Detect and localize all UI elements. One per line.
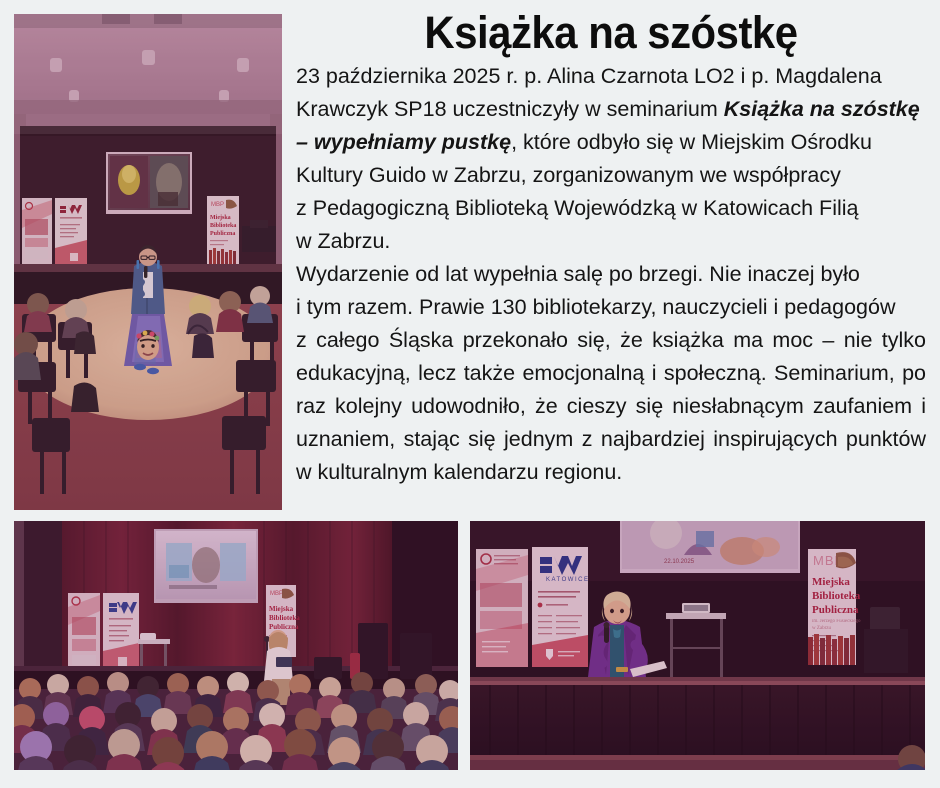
paragraph-intro: 23 października 2025 r. p. Alina Czarnot… bbox=[296, 60, 926, 192]
paragraph-event-1: Wydarzenie od lat wypełnia salę po brzeg… bbox=[296, 258, 926, 291]
article-body: 23 października 2025 r. p. Alina Czarnot… bbox=[296, 60, 926, 489]
article-text-column: Książka na szóstkę 23 października 2025 … bbox=[296, 8, 926, 489]
article-page: MBP Miejska Biblioteka Publiczna bbox=[0, 0, 940, 788]
hero-photo-speaker-in-aisle: MBP Miejska Biblioteka Publiczna bbox=[14, 14, 282, 510]
paragraph-summary: z całego Śląska przekonało się, że książ… bbox=[296, 324, 926, 489]
paragraph-partner: z Pedagogiczną Biblioteką Wojewódzką w K… bbox=[296, 192, 926, 225]
paragraph-place: w Zabrzu. bbox=[296, 225, 926, 258]
paragraph-event-2: i tym razem. Prawie 130 bibliotekarzy, n… bbox=[296, 291, 926, 324]
page-title: Książka na szóstkę bbox=[318, 8, 904, 58]
stage-speaker-photo: 22.10.2025 bbox=[470, 521, 925, 770]
audience-photo: MBP Miejska Biblioteka Publiczna bbox=[14, 521, 458, 770]
